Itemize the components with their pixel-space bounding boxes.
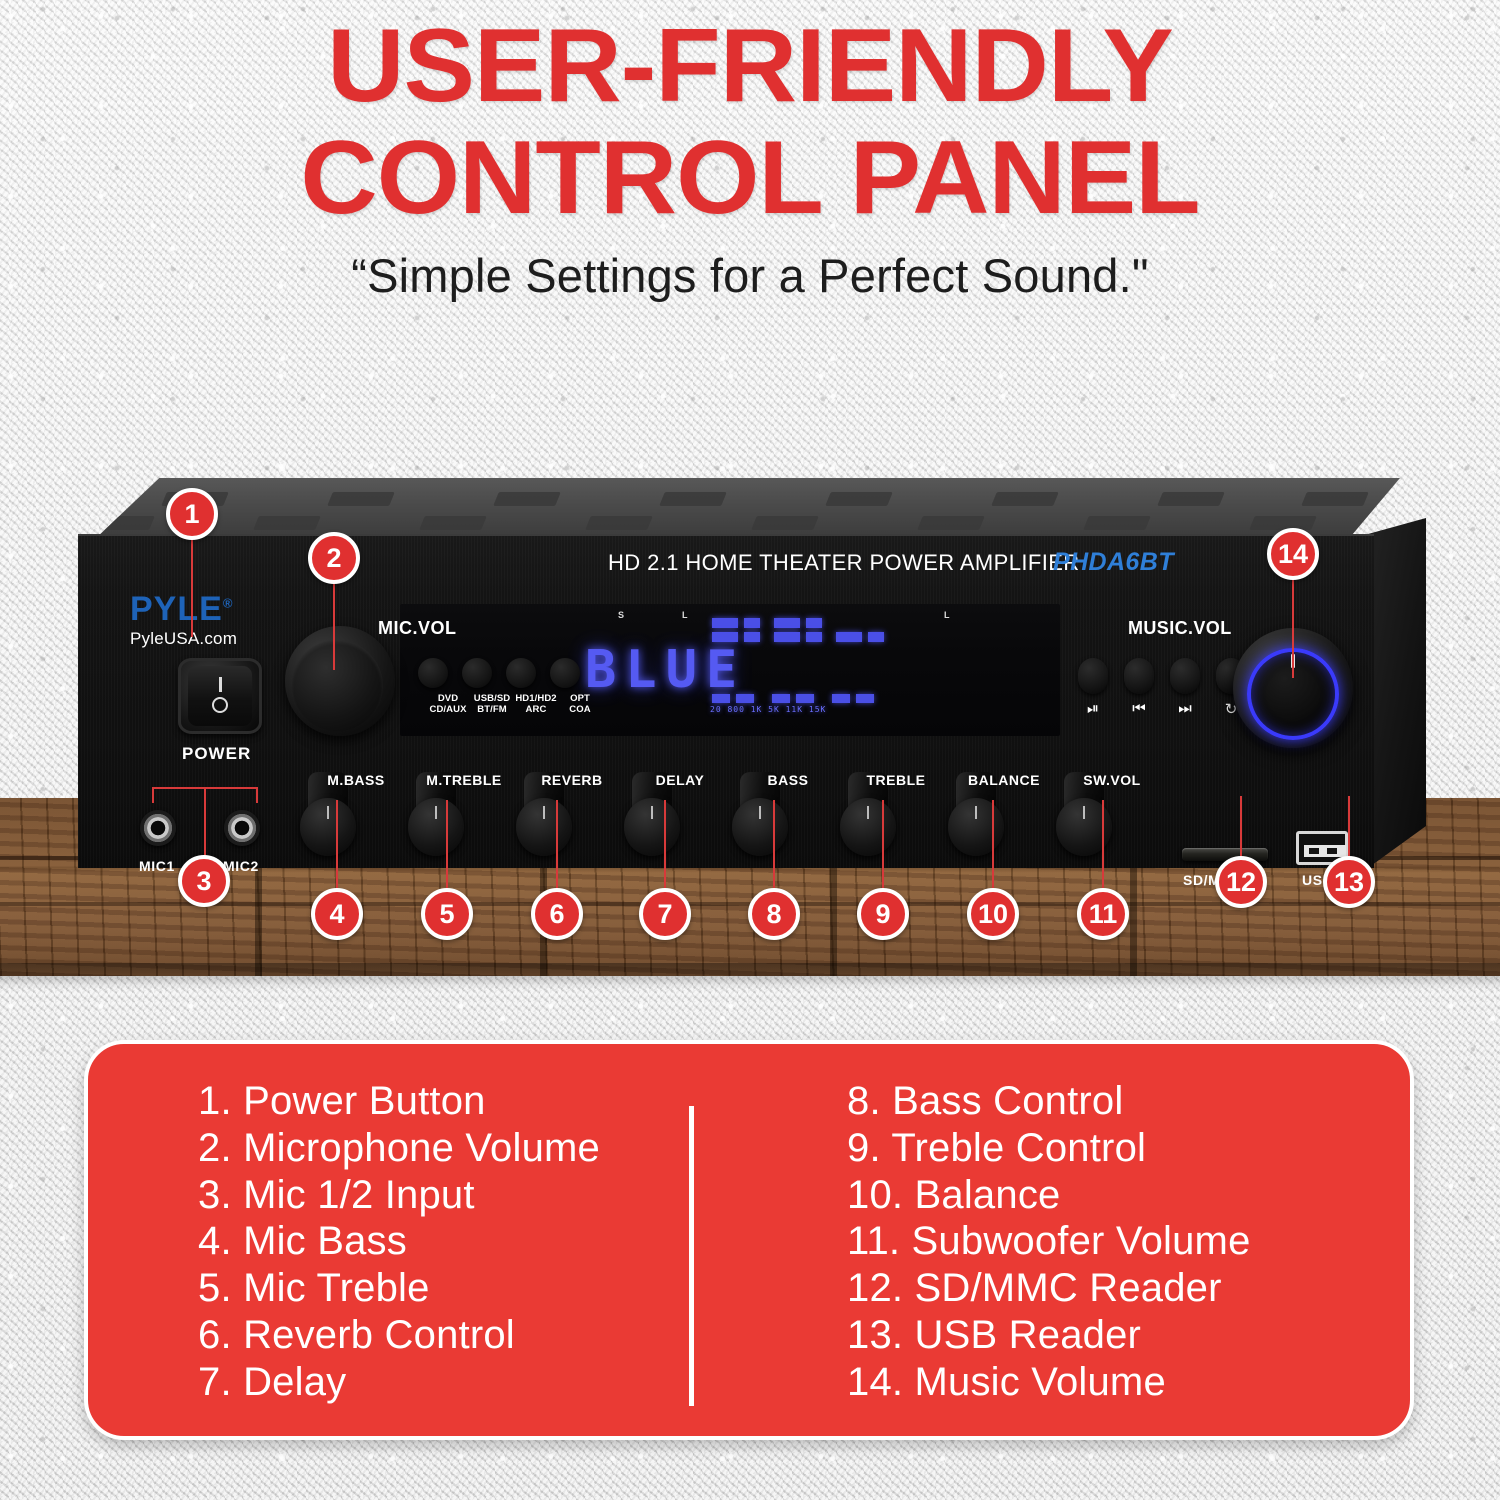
callout-badge-11[interactable]: 11 — [1077, 888, 1129, 940]
leader-line-3b — [256, 787, 258, 803]
legend-item: 6. Reverb Control — [198, 1312, 761, 1359]
callout-badge-1[interactable]: 1 — [166, 488, 218, 540]
callout-badge-3[interactable]: 3 — [178, 855, 230, 907]
headline-line-1: USER-FRIENDLY — [0, 16, 1500, 118]
bass-label: BASS — [728, 772, 848, 788]
headline-line-2: CONTROL PANEL — [0, 128, 1500, 230]
amplifier-top-panel — [94, 478, 1400, 540]
callout-badge-4[interactable]: 4 — [311, 888, 363, 940]
amplifier-side-panel — [1368, 518, 1426, 868]
legend-item: 8. Bass Control — [847, 1078, 1410, 1125]
callout-badge-12[interactable]: 12 — [1215, 856, 1267, 908]
subwoofer-volume-label: SW.VOL — [1052, 772, 1172, 788]
mic1-jack[interactable] — [140, 810, 176, 846]
legend-item: 11. Subwoofer Volume — [847, 1218, 1410, 1265]
legend-item: 7. Delay — [198, 1359, 761, 1406]
headline-subtitle: “Simple Settings for a Perfect Sound." — [0, 248, 1500, 303]
legend-item: 2. Microphone Volume — [198, 1125, 761, 1172]
sd-mmc-slot[interactable] — [1182, 848, 1268, 861]
callout-badge-7[interactable]: 7 — [639, 888, 691, 940]
previous-track-button[interactable] — [1124, 658, 1154, 694]
legend-divider — [689, 1106, 694, 1406]
legend-item: 13. USB Reader — [847, 1312, 1410, 1359]
leader-line-3a — [152, 787, 154, 803]
registered-mark-icon: ® — [223, 596, 234, 611]
leader-line-1 — [191, 525, 193, 637]
shelf-plank-gap — [830, 856, 837, 976]
amplifier-front-face: PYLE® PyleUSA.com HD 2.1 HOME THEATER PO… — [78, 534, 1374, 868]
amplifier-unit: PYLE® PyleUSA.com HD 2.1 HOME THEATER PO… — [78, 478, 1412, 868]
pyle-logo: PYLE® PyleUSA.com — [130, 592, 237, 649]
mic-treble-label: M.TREBLE — [404, 772, 524, 788]
source-button-opt-coa[interactable] — [550, 658, 580, 688]
source-button-usb-sd-bt-fm[interactable] — [462, 658, 492, 688]
legend-item: 3. Mic 1/2 Input — [198, 1172, 761, 1219]
mic-volume-knob[interactable] — [285, 626, 395, 736]
shelf-plank-gap — [255, 856, 262, 976]
source-button-hd1-hd2-arc[interactable] — [506, 658, 536, 688]
reverb-label: REVERB — [512, 772, 632, 788]
callout-badge-13[interactable]: 13 — [1323, 856, 1375, 908]
display-eq-scale: 20 800 1K 5K 11K 15K — [710, 705, 826, 714]
shelf-plank-gap — [1130, 856, 1137, 976]
legend-item: 5. Mic Treble — [198, 1265, 761, 1312]
play-pause-button[interactable] — [1078, 658, 1108, 694]
legend-column-right: 8. Bass Control 9. Treble Control 10. Ba… — [761, 1078, 1410, 1408]
source-label-opt-coa: OPT COA — [552, 694, 608, 715]
legend-item: 1. Power Button — [198, 1078, 761, 1125]
previous-track-icon: ⏮ — [1124, 700, 1154, 717]
delay-label: DELAY — [620, 772, 740, 788]
callout-badge-8[interactable]: 8 — [748, 888, 800, 940]
callout-badge-10[interactable]: 10 — [967, 888, 1019, 940]
treble-label: TREBLE — [836, 772, 956, 788]
callout-badge-2[interactable]: 2 — [308, 532, 360, 584]
legend-item: 14. Music Volume — [847, 1359, 1410, 1406]
mic1-label: MIC1 — [139, 858, 175, 874]
mic-bass-label: M.BASS — [296, 772, 416, 788]
legend-panel: 1. Power Button 2. Microphone Volume 3. … — [84, 1040, 1414, 1440]
source-button-group: DVD CD/AUX USB/SD BT/FM HD1/HD2 ARC OPT … — [418, 658, 618, 734]
legend-column-left: 1. Power Button 2. Microphone Volume 3. … — [88, 1078, 761, 1408]
callout-badge-9[interactable]: 9 — [857, 888, 909, 940]
leader-line-2 — [333, 570, 335, 670]
callout-badge-5[interactable]: 5 — [421, 888, 473, 940]
legend-item: 12. SD/MMC Reader — [847, 1265, 1410, 1312]
legend-item: 10. Balance — [847, 1172, 1410, 1219]
model-number: PHDA6BT — [1053, 548, 1174, 577]
source-button-dvd-cd-aux[interactable] — [418, 658, 448, 688]
power-label: POWER — [182, 744, 251, 764]
legend-item: 9. Treble Control — [847, 1125, 1410, 1172]
power-button[interactable] — [178, 658, 262, 734]
power-on-icon — [219, 677, 222, 692]
balance-label: BALANCE — [944, 772, 1064, 788]
product-title: HD 2.1 HOME THEATER POWER AMPLIFIER — [608, 550, 1080, 576]
brand-name: PYLE — [130, 590, 223, 628]
power-rocker-inner — [188, 666, 252, 726]
callout-badge-6[interactable]: 6 — [531, 888, 583, 940]
leader-line-3 — [204, 787, 206, 859]
mic-volume-label: MIC.VOL — [378, 618, 457, 639]
next-track-button[interactable] — [1170, 658, 1200, 694]
next-track-icon: ⏭ — [1170, 700, 1200, 717]
power-off-icon — [212, 697, 228, 713]
legend-item: 4. Mic Bass — [198, 1218, 761, 1265]
play-pause-icon: ⏯ — [1078, 700, 1108, 717]
headline-block: USER-FRIENDLY CONTROL PANEL “Simple Sett… — [0, 16, 1500, 303]
shelf-shadow — [0, 963, 1500, 989]
leader-line-14 — [1292, 566, 1294, 678]
music-volume-label: MUSIC.VOL — [1128, 618, 1232, 639]
mic2-jack[interactable] — [224, 810, 260, 846]
callout-badge-14[interactable]: 14 — [1267, 528, 1319, 580]
brand-website: PyleUSA.com — [130, 629, 237, 649]
